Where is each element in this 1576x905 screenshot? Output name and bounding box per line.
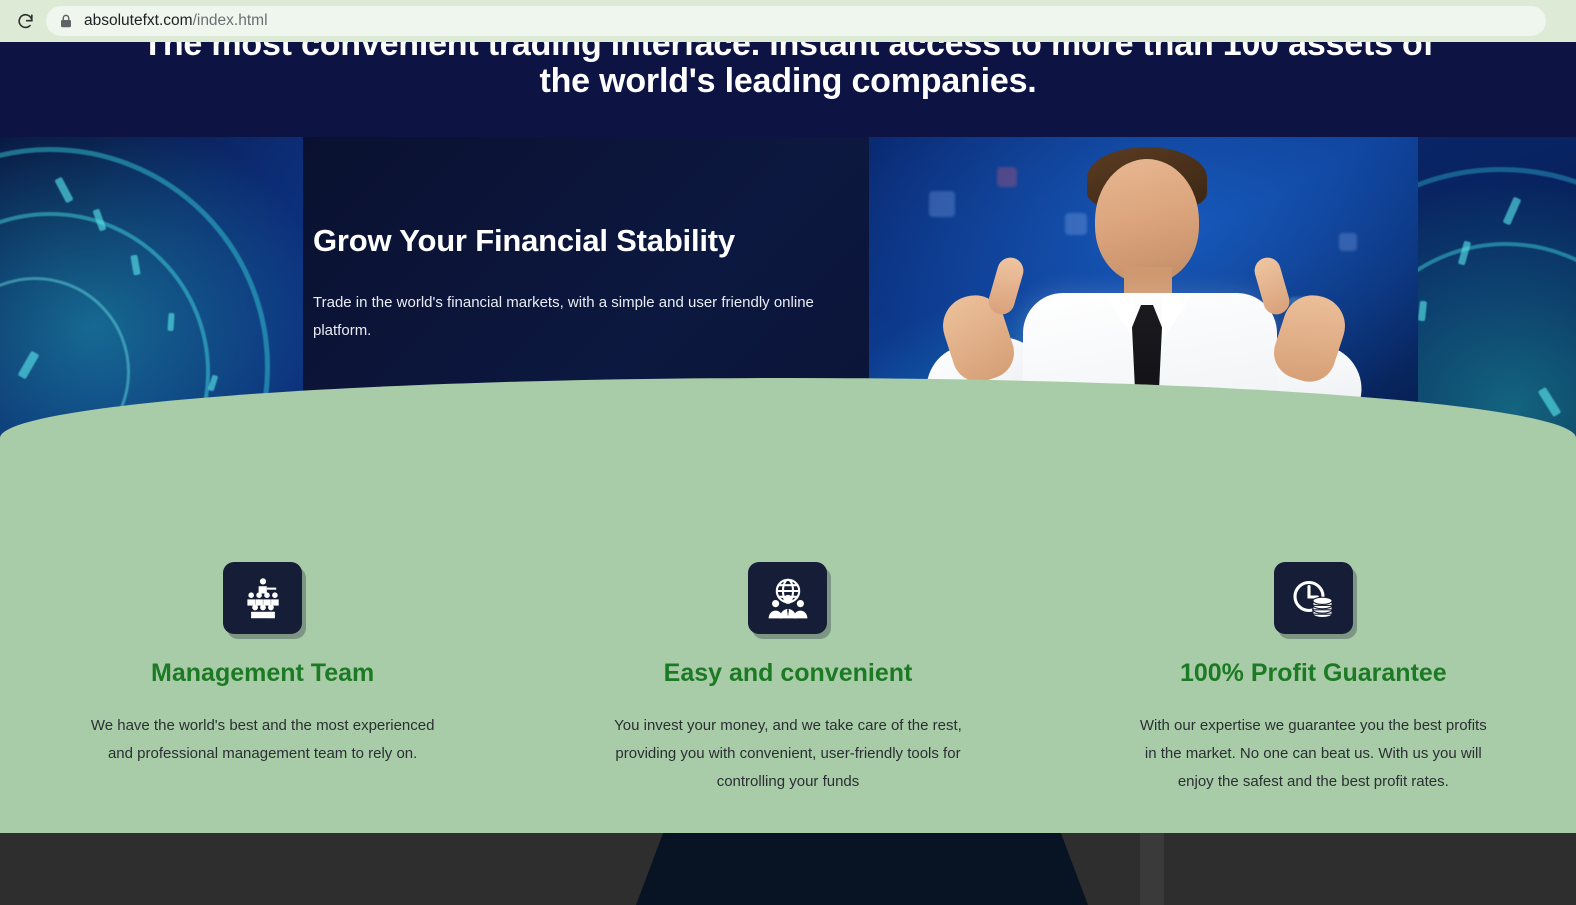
- url-path: /index.html: [193, 12, 268, 29]
- head: [1095, 159, 1199, 283]
- url-text: absolutefxt.com/index.html: [84, 12, 268, 30]
- management-team-icon: [223, 562, 302, 634]
- next-section-preview: [0, 833, 1576, 905]
- left-thumb-up: [986, 255, 1027, 318]
- page-viewport: The most convenient trading interface. I…: [0, 42, 1576, 905]
- globe-people-icon: [748, 562, 827, 634]
- features-section: Management Team We have the world's best…: [0, 378, 1576, 833]
- collar-right: [1162, 295, 1192, 341]
- clock-coins-icon: [1274, 562, 1353, 634]
- decorative-shape: [1140, 833, 1164, 905]
- feature-text: You invest your money, and we take care …: [610, 712, 965, 796]
- decorative-shape: [636, 833, 1088, 905]
- feature-management-team: Management Team We have the world's best…: [0, 562, 525, 796]
- feature-title: Management Team: [26, 659, 499, 688]
- page-headline: The most convenient trading interface. I…: [0, 42, 1576, 99]
- collar-left: [1105, 295, 1135, 341]
- hero-title: Grow Your Financial Stability: [313, 223, 869, 259]
- reload-icon[interactable]: [10, 6, 40, 36]
- url-domain: absolutefxt.com: [84, 12, 193, 29]
- decorative-tick: [167, 313, 174, 331]
- feature-text: With our expertise we guarantee you the …: [1136, 712, 1491, 796]
- address-bar[interactable]: absolutefxt.com/index.html: [46, 6, 1546, 36]
- feature-easy-convenient: Easy and convenient You invest your mone…: [525, 562, 1050, 796]
- headline-banner: The most convenient trading interface. I…: [0, 42, 1576, 137]
- features-row: Management Team We have the world's best…: [0, 562, 1576, 796]
- hero-subtitle: Trade in the world's financial markets, …: [313, 289, 818, 345]
- browser-toolbar: absolutefxt.com/index.html: [0, 0, 1576, 42]
- feature-profit-guarantee: 100% Profit Guarantee With our expertise…: [1051, 562, 1576, 796]
- lock-icon: [60, 14, 72, 28]
- feature-text: We have the world's best and the most ex…: [85, 712, 440, 768]
- feature-title: 100% Profit Guarantee: [1077, 659, 1550, 688]
- feature-title: Easy and convenient: [551, 659, 1024, 688]
